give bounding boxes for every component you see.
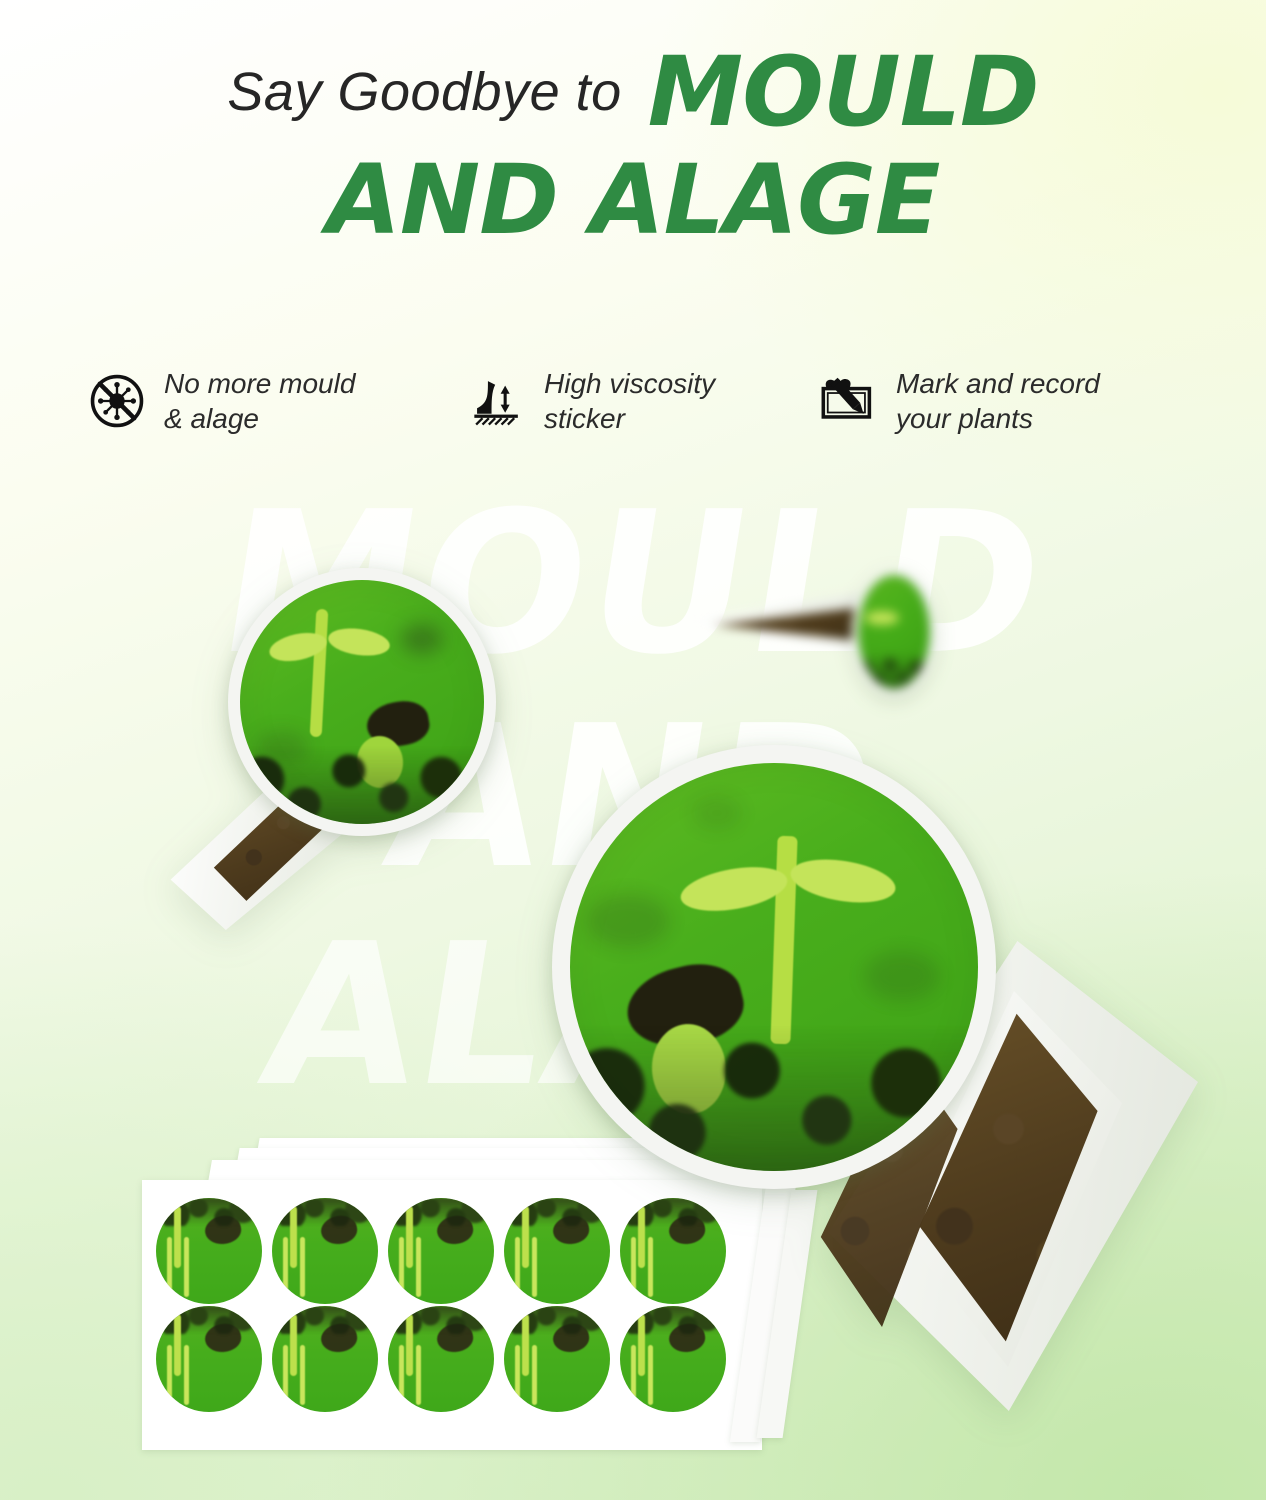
sticker-dot — [272, 1198, 378, 1304]
cone-rim-small — [228, 568, 496, 836]
cone-funnel-inner-large — [846, 983, 1146, 1383]
cone-soil-large — [860, 1003, 1130, 1363]
feature-line-2: sticker — [544, 401, 715, 436]
feature-text-no-mould: No more mould & alage — [164, 366, 355, 437]
headline-emphasis-and-alage: AND ALAGE — [0, 144, 1266, 256]
cone-funnel-small — [166, 750, 396, 930]
feature-line-2: your plants — [896, 401, 1100, 436]
plant-label-pencil-icon — [818, 370, 880, 432]
product-cone-large — [530, 745, 1210, 1425]
cone-soil-blurred — [708, 605, 858, 649]
feature-line-1: No more mould — [164, 366, 355, 401]
feature-text-mark-record: Mark and record your plants — [896, 366, 1100, 437]
sticker-sheet-back-2 — [164, 1160, 742, 1432]
cone-soil-large-secondary — [792, 1045, 972, 1345]
sticker-dot — [388, 1198, 494, 1304]
feature-text-high-viscosity: High viscosity sticker — [544, 366, 715, 437]
sticker-dot — [620, 1198, 726, 1304]
watermark-row-2: AND — [375, 700, 890, 896]
product-cone-motion-blurred — [690, 565, 950, 715]
feature-line-1: High viscosity — [544, 366, 715, 401]
headline-emphasis-mould: MOULD — [648, 36, 1039, 148]
headline-line-1: Say Goodbye toMOULD — [0, 44, 1266, 140]
sticker-dot — [504, 1306, 610, 1412]
watermark-row-1: MOULD — [208, 486, 1057, 682]
cone-rim-large — [552, 745, 996, 1189]
sticker-dot — [156, 1306, 262, 1412]
cone-label-blurred — [858, 575, 930, 689]
cone-funnel-blurred — [690, 589, 886, 663]
headline-lead-text: Say Goodbye to — [227, 62, 621, 122]
sticker-dot — [504, 1198, 610, 1304]
feature-list: No more mould & alage — [86, 366, 1186, 437]
feature-item-high-viscosity: High viscosity sticker — [466, 366, 818, 437]
cone-soil-small — [202, 778, 350, 906]
feature-line-1: Mark and record — [896, 366, 1100, 401]
sticker-dot — [272, 1306, 378, 1412]
product-cone-small — [160, 560, 540, 960]
sticker-dot — [156, 1198, 262, 1304]
sticker-sheet-edge-2 — [757, 1190, 818, 1438]
cone-rim-blurred — [852, 569, 936, 695]
watermark-row-3: ALAGE — [251, 918, 1015, 1114]
cone-funnel-large — [768, 941, 1198, 1411]
product-marketing-poster: MOULD AND ALAGE Say Goodbye toMOULD AND … — [0, 0, 1266, 1500]
feature-item-no-mould: No more mould & alage — [86, 366, 466, 437]
no-mould-icon — [86, 370, 148, 432]
sticker-sheet-edge-1 — [730, 1184, 796, 1442]
sticker-dot — [388, 1306, 494, 1412]
headline-block: Say Goodbye toMOULD AND ALAGE — [0, 44, 1266, 256]
sticker-sheet-back-4 — [212, 1138, 779, 1406]
sticker-sheet-front — [142, 1180, 762, 1450]
feature-line-2: & alage — [164, 401, 355, 436]
adhesive-sticker-icon — [466, 370, 528, 432]
cone-label-large — [570, 763, 978, 1171]
sticker-sheet-back-3 — [192, 1148, 759, 1416]
sticker-dot — [620, 1306, 726, 1412]
sticker-sheet-stack — [128, 1138, 868, 1458]
sticker-grid — [156, 1198, 736, 1414]
feature-item-mark-record: Mark and record your plants — [818, 366, 1186, 437]
cone-label-small — [240, 580, 484, 824]
